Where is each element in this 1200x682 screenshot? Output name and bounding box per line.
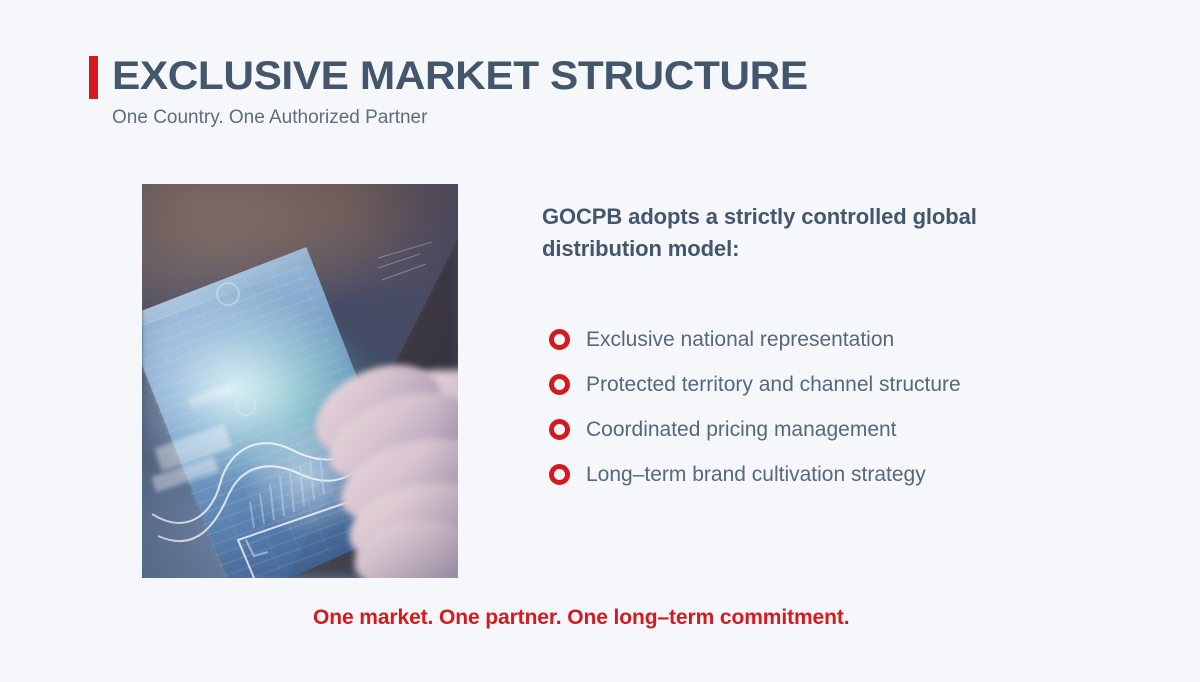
list-item-label: Protected territory and channel structur… xyxy=(586,372,961,398)
lede-text: GOCPB adopts a strictly controlled globa… xyxy=(542,201,1087,265)
slide: EXCLUSIVE MARKET STRUCTURE One Country. … xyxy=(0,0,1200,682)
list-item: Exclusive national representation xyxy=(542,317,1142,362)
ring-bullet-icon xyxy=(549,464,570,485)
list-item: Protected territory and channel structur… xyxy=(542,362,1142,407)
title-row: EXCLUSIVE MARKET STRUCTURE xyxy=(89,52,768,100)
header: EXCLUSIVE MARKET STRUCTURE One Country. … xyxy=(89,52,768,130)
hero-photo xyxy=(142,184,458,578)
photo-vignette xyxy=(142,184,458,578)
list-item-label: Long–term brand cultivation strategy xyxy=(586,462,926,488)
list-item-label: Coordinated pricing management xyxy=(586,417,897,443)
list-item: Coordinated pricing management xyxy=(542,407,1142,452)
accent-bar xyxy=(89,56,98,99)
ring-bullet-icon xyxy=(549,374,570,395)
page-title: EXCLUSIVE MARKET STRUCTURE xyxy=(112,52,808,100)
tagline: One market. One partner. One long–term c… xyxy=(313,604,849,632)
content-column: GOCPB adopts a strictly controlled globa… xyxy=(542,201,1142,497)
ring-bullet-icon xyxy=(549,329,570,350)
list-item-label: Exclusive national representation xyxy=(586,327,894,353)
ring-bullet-icon xyxy=(549,419,570,440)
page-subtitle: One Country. One Authorized Partner xyxy=(112,106,768,130)
benefits-list: Exclusive national representation Protec… xyxy=(542,317,1142,497)
list-item: Long–term brand cultivation strategy xyxy=(542,452,1142,497)
